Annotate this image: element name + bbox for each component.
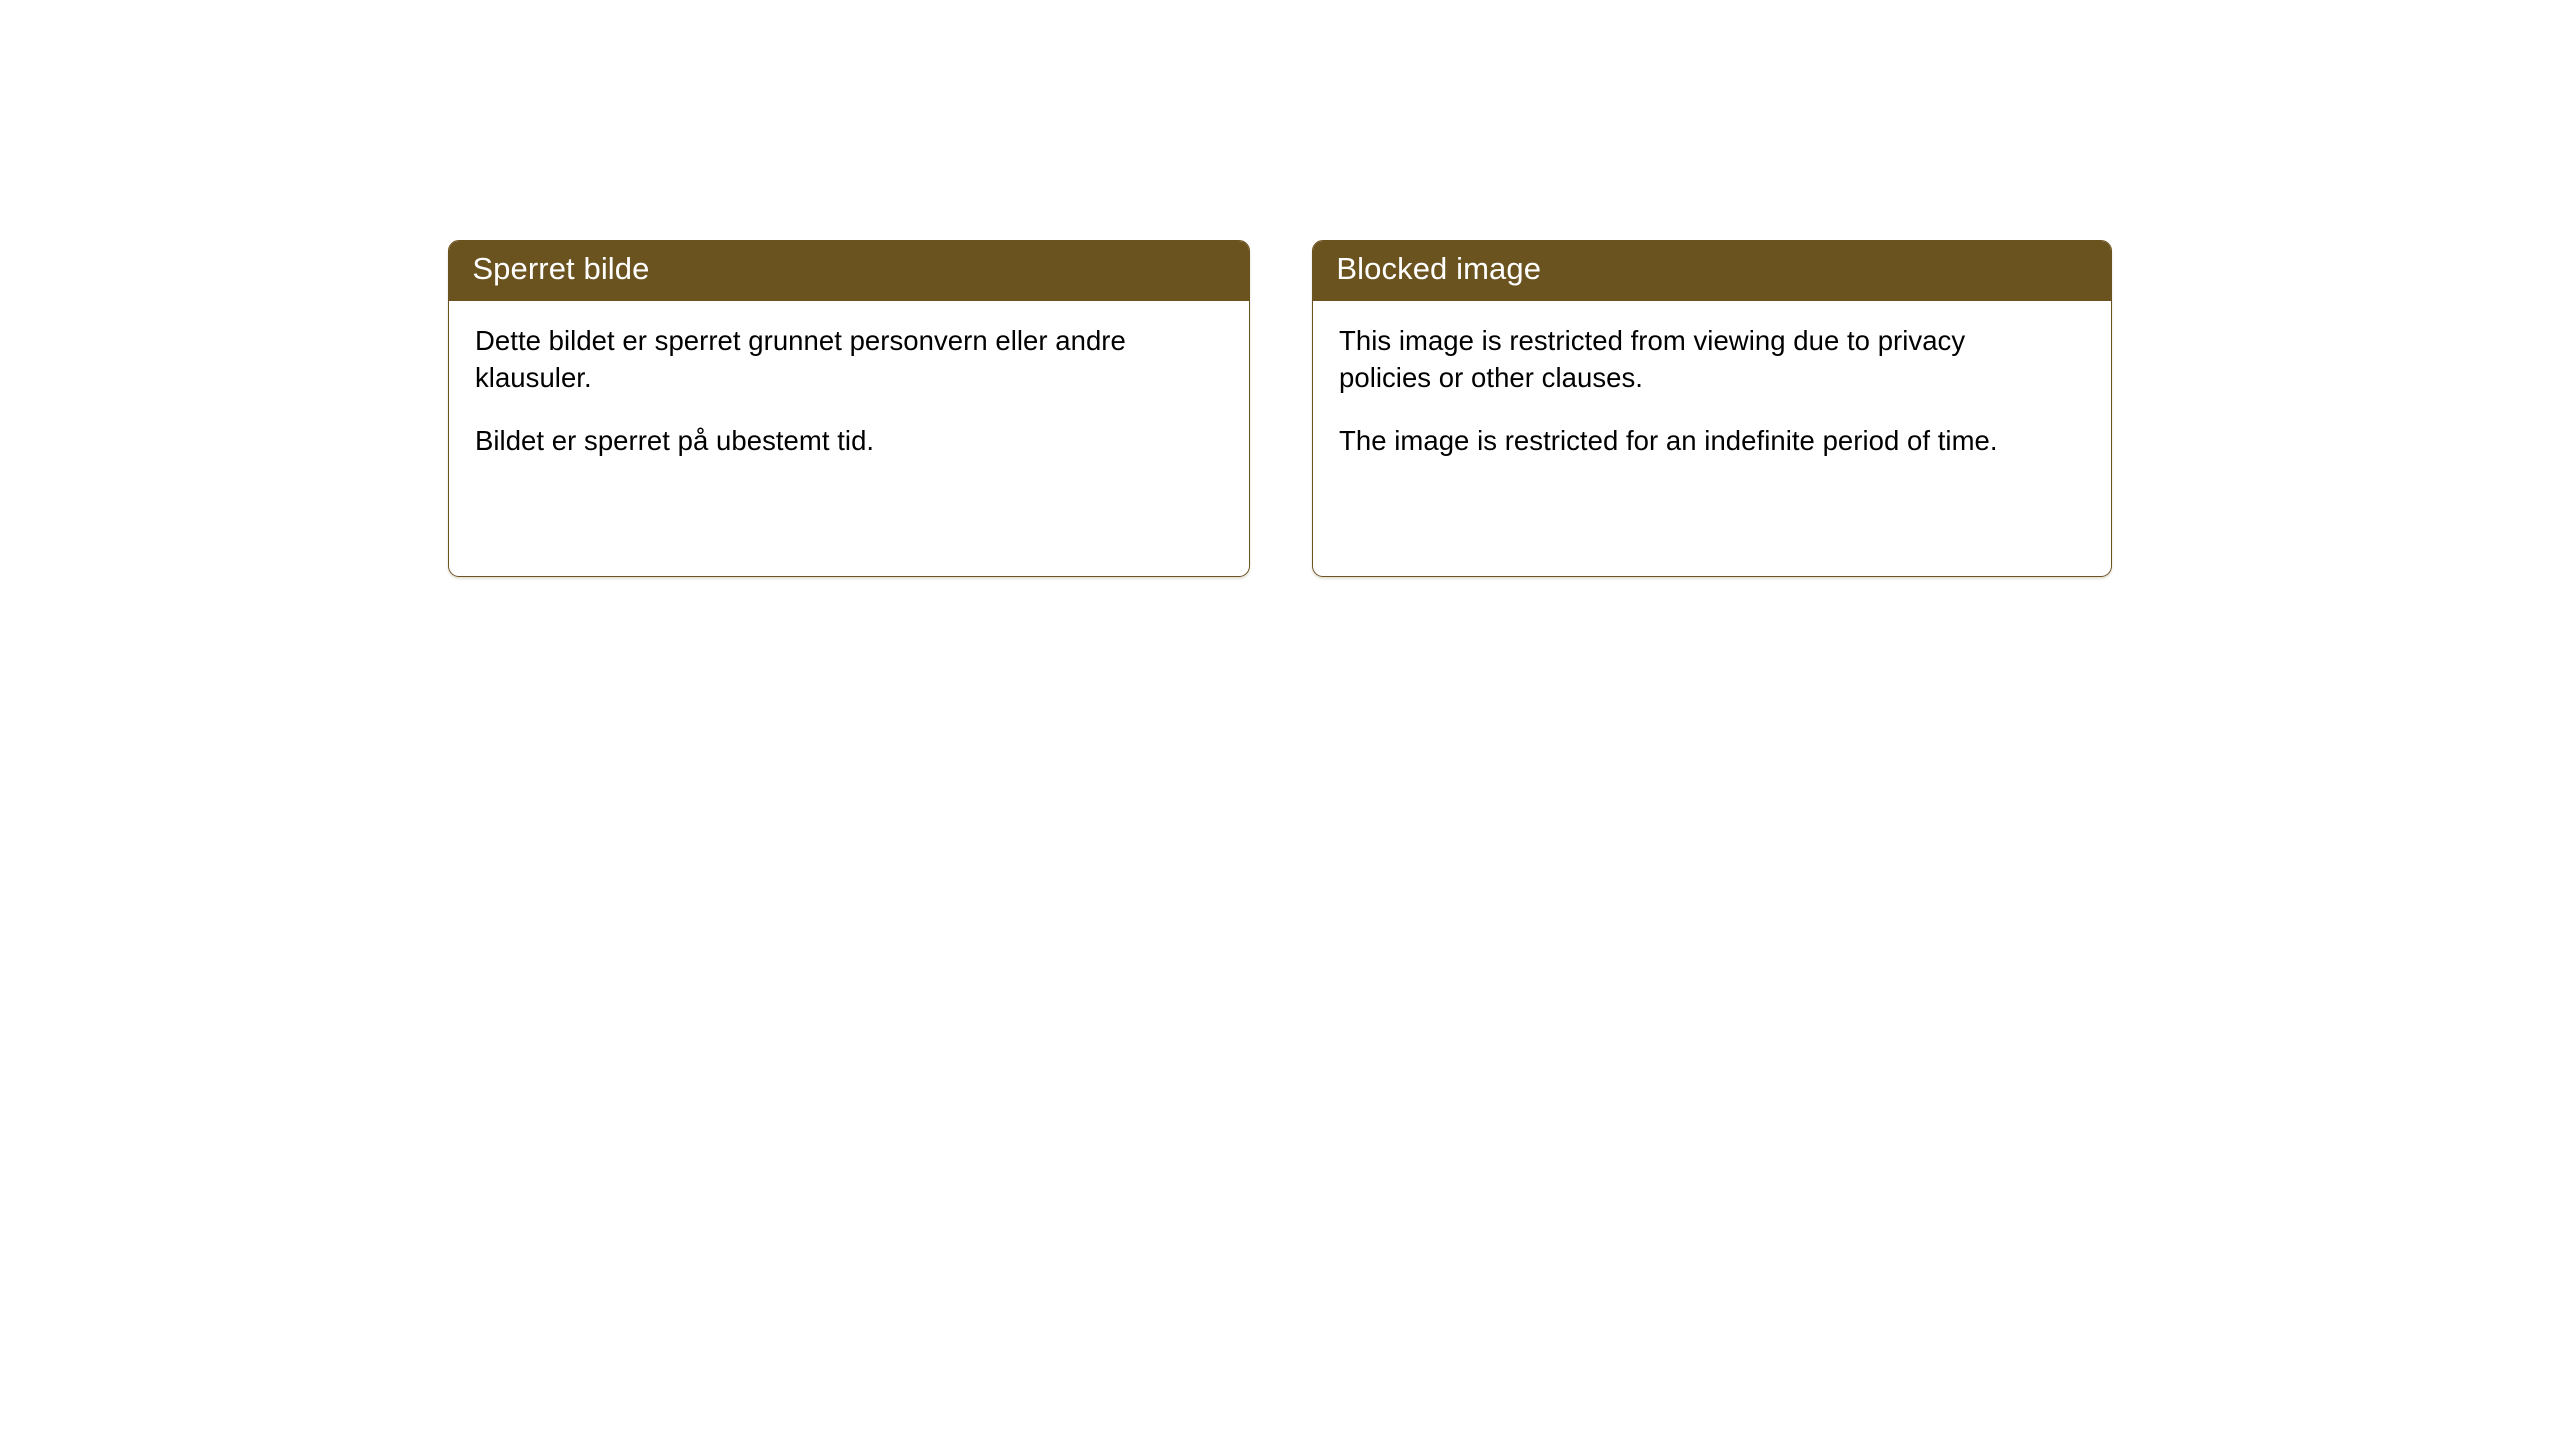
blocked-image-card-no: Sperret bilde Dette bildet er sperret gr… [448,240,1250,577]
blocked-image-card-en: Blocked image This image is restricted f… [1312,240,2112,577]
card-title-no: Sperret bilde [472,252,649,286]
card-paragraph-no-2: Bildet er sperret på ubestemt tid. [475,423,1205,460]
card-header-en: Blocked image [1312,240,2112,301]
card-paragraph-en-2: The image is restricted for an indefinit… [1339,423,2059,460]
card-paragraph-no-1: Dette bildet er sperret grunnet personve… [475,323,1205,396]
card-header-no: Sperret bilde [448,240,1250,301]
card-paragraph-en-1: This image is restricted from viewing du… [1339,323,2059,396]
card-body-en: This image is restricted from viewing du… [1313,301,2111,459]
blocked-image-notice-group: Sperret bilde Dette bildet er sperret gr… [448,240,2112,577]
card-title-en: Blocked image [1336,252,1541,286]
page-canvas: Sperret bilde Dette bildet er sperret gr… [0,0,2560,1440]
card-body-no: Dette bildet er sperret grunnet personve… [449,301,1249,459]
